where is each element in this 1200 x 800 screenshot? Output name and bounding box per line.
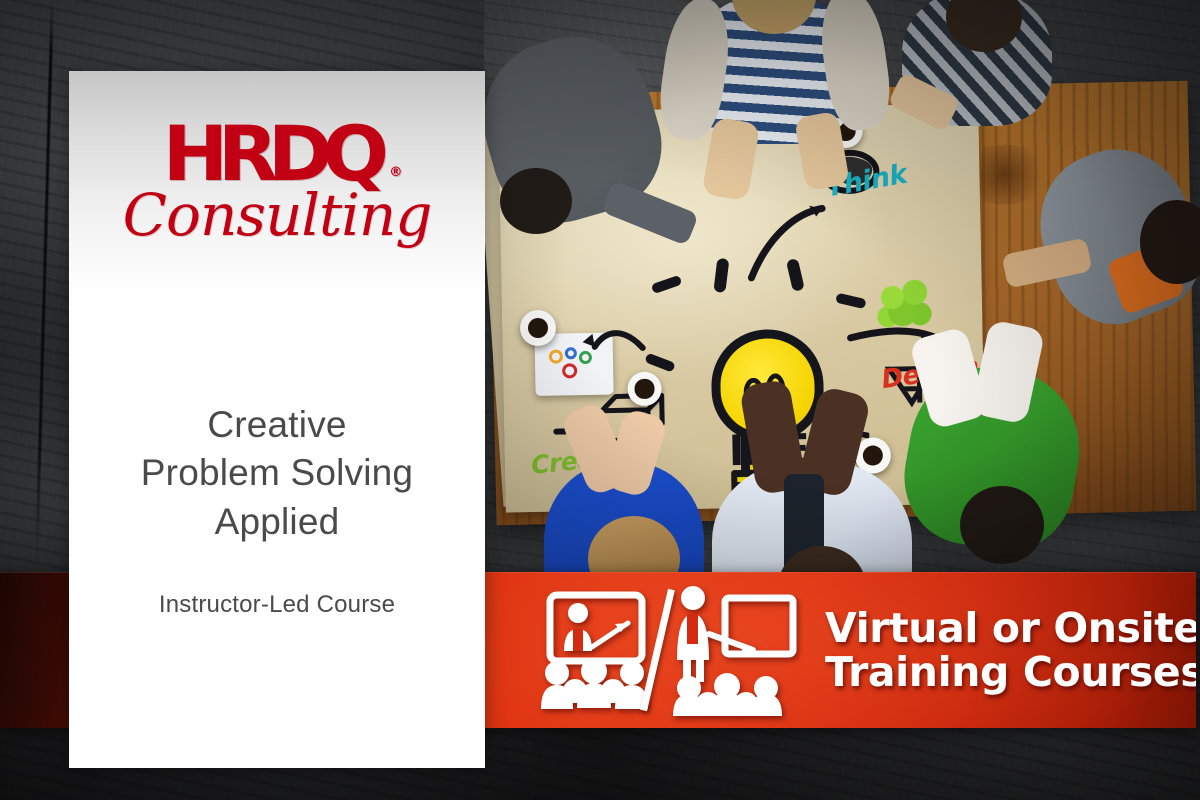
hrdq-wordmark: HRDQ® [162, 118, 392, 190]
hrdq-brand-text: HRDQ [162, 109, 378, 198]
standing-presenter-icon [667, 584, 799, 716]
banner-headline-line1: Virtual or Onsite [825, 606, 1196, 650]
banner-headline-line2: Training Courses [825, 650, 1196, 694]
classroom-presenter-icon [540, 591, 648, 709]
course-title-line-2: Problem Solving [87, 449, 467, 497]
course-title-line-3: Applied [87, 498, 467, 546]
promo-card-stage: IDEAS Think Creative Design [0, 0, 1200, 800]
course-format-label: Instructor-Led Course [69, 591, 485, 619]
banner-icon-group [540, 584, 799, 716]
course-card: HRDQ® Consulting Creative Problem Solvin… [69, 71, 485, 768]
course-title-line-1: Creative [87, 401, 467, 449]
banner-headline: Virtual or Onsite Training Courses [825, 606, 1196, 695]
registered-mark: ® [389, 165, 402, 180]
course-title: Creative Problem Solving Applied [69, 401, 485, 545]
hrdq-logo: HRDQ® Consulting [69, 71, 485, 245]
